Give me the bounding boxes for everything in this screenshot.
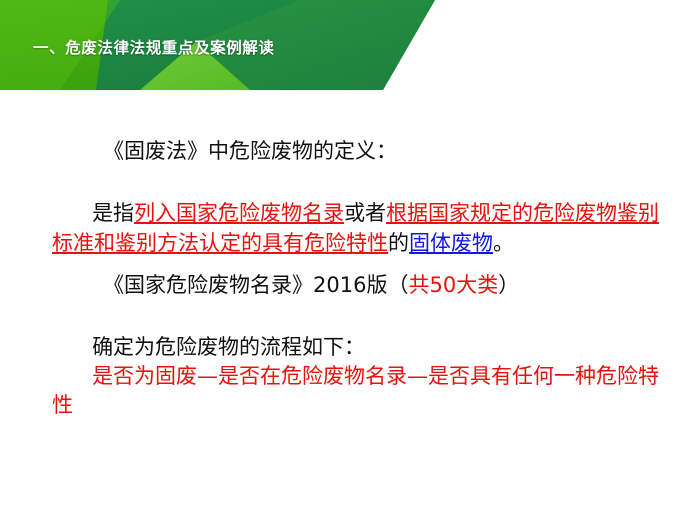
slide-body: 《固废法》中危险废物的定义： 是指列入国家危险废物名录或者根据国家规定的危险废物… bbox=[0, 90, 700, 525]
definition-seg-2: 或者 bbox=[344, 201, 386, 225]
process-steps: 是否为固废—是否在危险废物名录—是否具有任何一种危险特性 bbox=[52, 333, 672, 449]
catalogue-seg-0: 《国家危险废物名录》2016版（ bbox=[103, 273, 408, 297]
page-title: 一、危废法律法规重点及案例解读 bbox=[33, 36, 275, 58]
header-banner: 一、危废法律法规重点及案例解读 bbox=[0, 0, 700, 90]
catalogue-seg-2: ） bbox=[498, 273, 519, 297]
definition-seg-0: 是指 bbox=[92, 201, 134, 225]
slide-root: 一、危废法律法规重点及案例解读 《固废法》中危险废物的定义： 是指列入国家危险废… bbox=[0, 0, 700, 525]
definition-seg-1: 列入国家危险废物名录 bbox=[134, 201, 344, 225]
process-steps-text: 是否为固废—是否在危险废物名录—是否具有任何一种危险特性 bbox=[52, 364, 659, 417]
definition-heading-text: 《固废法》中危险废物的定义： bbox=[103, 139, 397, 163]
catalogue-seg-count: 共50大类 bbox=[409, 273, 499, 297]
